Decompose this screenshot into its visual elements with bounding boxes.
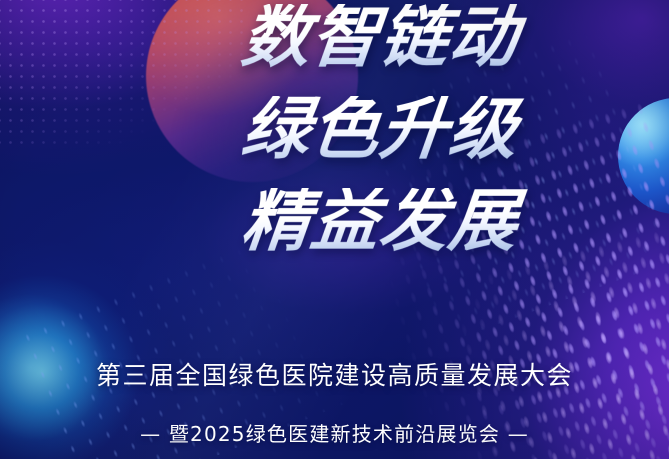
vignette-overlay bbox=[0, 0, 669, 459]
conference-poster-banner: 数智链动 绿色升级 精益发展 第三届全国绿色医院建设高质量发展大会 — 暨202… bbox=[0, 0, 669, 459]
